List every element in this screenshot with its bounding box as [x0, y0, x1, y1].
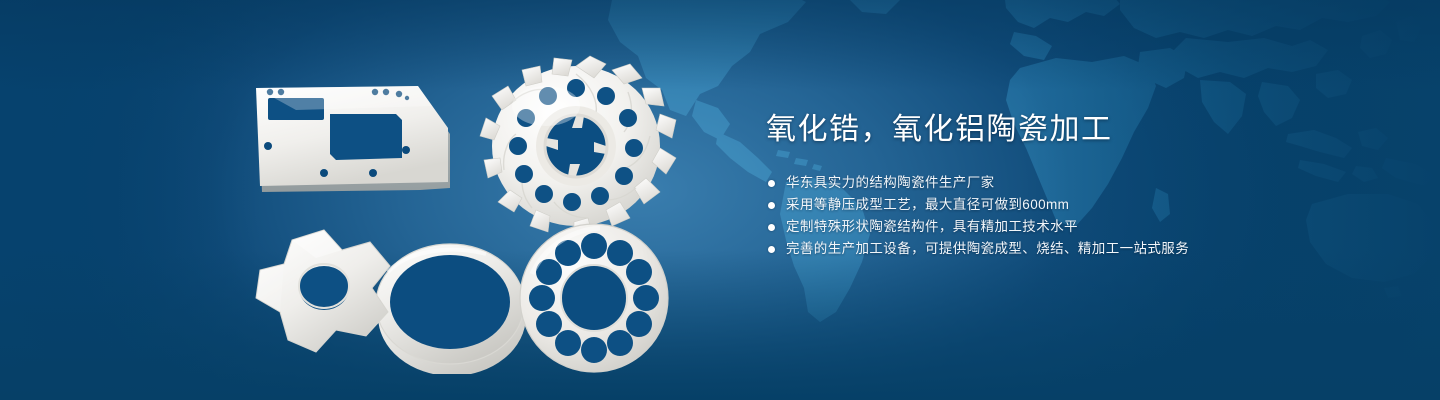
list-item: 采用等静压成型工艺，最大直径可做到600mm [768, 194, 1366, 216]
ceramic-flange-disc [520, 224, 668, 372]
feature-list: 华东具实力的结构陶瓷件生产厂家 采用等静压成型工艺，最大直径可做到600mm 定… [768, 172, 1366, 260]
ceramic-products-image [236, 44, 696, 374]
banner-edge-shade-bottom [0, 250, 1440, 400]
ceramic-machined-plate [256, 86, 450, 192]
bullet-dot-icon [768, 224, 775, 231]
banner-edge-shade-top [0, 0, 1440, 90]
list-item: 定制特殊形状陶瓷结构件，具有精加工技术水平 [768, 216, 1366, 238]
list-item: 华东具实力的结构陶瓷件生产厂家 [768, 172, 1366, 194]
bullet-dot-icon [768, 246, 775, 253]
feature-text: 华东具实力的结构陶瓷件生产厂家 [786, 172, 995, 194]
feature-text: 定制特殊形状陶瓷结构件，具有精加工技术水平 [786, 216, 1078, 238]
page-title: 氧化锆，氧化铝陶瓷加工 [766, 110, 1366, 150]
feature-text: 完善的生产加工设备，可提供陶瓷成型、烧结、精加工一站式服务 [786, 238, 1189, 260]
ceramic-impeller-disc [480, 56, 676, 238]
ceramic-cross-part [256, 230, 390, 352]
banner-copy-block: 氧化锆，氧化铝陶瓷加工 华东具实力的结构陶瓷件生产厂家 采用等静压成型工艺，最大… [766, 110, 1366, 260]
bullet-dot-icon [768, 202, 775, 209]
ceramic-products-hero-banner: 氧化锆，氧化铝陶瓷加工 华东具实力的结构陶瓷件生产厂家 采用等静压成型工艺，最大… [0, 0, 1440, 400]
ceramic-rings [376, 244, 526, 374]
list-item: 完善的生产加工设备，可提供陶瓷成型、烧结、精加工一站式服务 [768, 238, 1366, 260]
bullet-dot-icon [768, 180, 775, 187]
feature-text: 采用等静压成型工艺，最大直径可做到600mm [786, 194, 1069, 216]
